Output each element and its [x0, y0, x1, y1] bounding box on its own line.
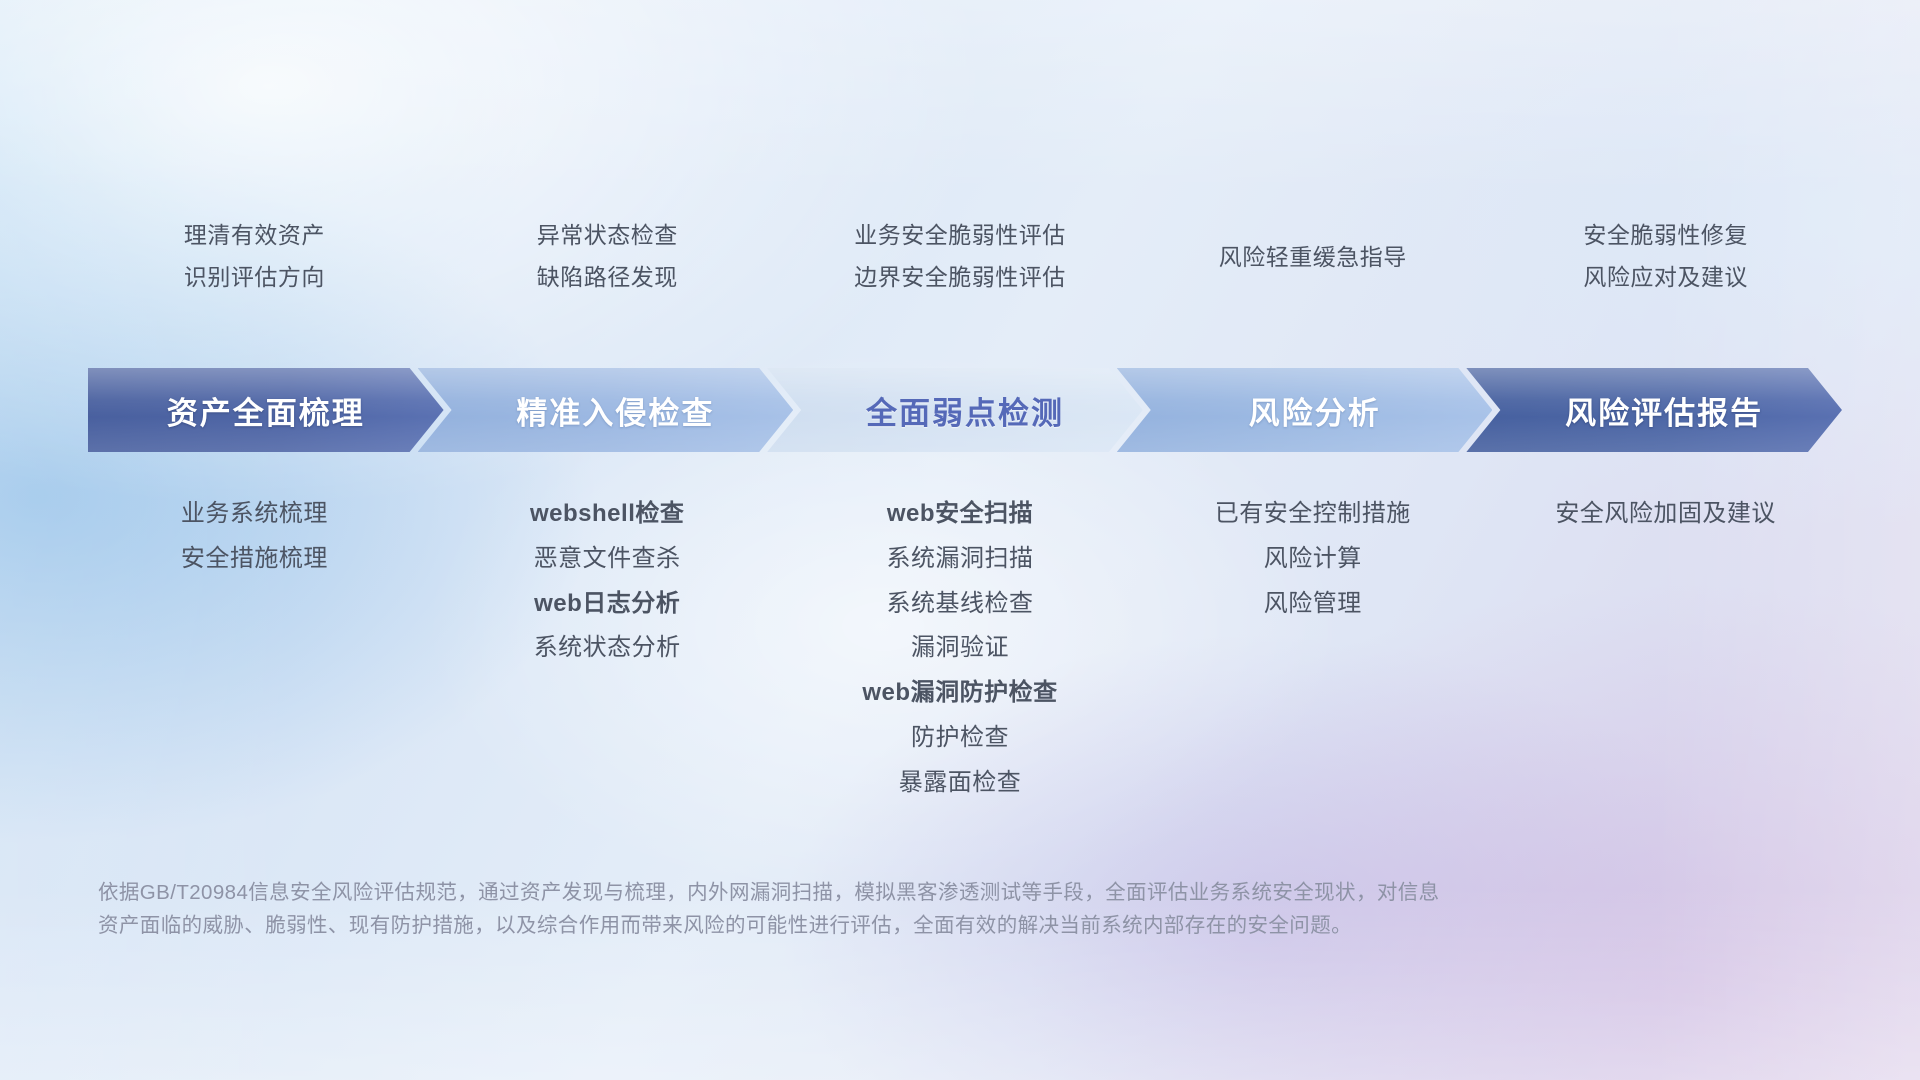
process-step-4[interactable]: 风险分析: [1117, 368, 1493, 452]
detail-list-step-3: web安全扫描 系统漏洞扫描 系统基线检查 漏洞验证 web漏洞防护检查 防护检…: [784, 500, 1137, 798]
detail-list-step-4: 已有安全控制措施 风险计算 风险管理: [1136, 500, 1489, 798]
list-item: 防护检查: [911, 724, 1009, 753]
process-arrow-band: 资产全面梳理 精准入侵检查 全面弱点检测 风险分析 风险评估报告: [88, 368, 1842, 452]
list-item: 已有安全控制措施: [1215, 500, 1411, 529]
process-diagram: 理清有效资产 识别评估方向 异常状态检查 缺陷路径发现 业务安全脆弱性评估 边界…: [0, 0, 1920, 1080]
detail-list-step-1: 业务系统梳理 安全措施梳理: [78, 500, 431, 798]
list-item: 系统漏洞扫描: [886, 545, 1033, 574]
top-note: 风险应对及建议: [1583, 264, 1748, 290]
top-note: 缺陷路径发现: [537, 264, 678, 290]
list-item: web日志分析: [534, 590, 680, 619]
list-item: 安全风险加固及建议: [1555, 500, 1776, 529]
list-item: 系统状态分析: [534, 634, 681, 663]
process-step-label: 风险评估报告: [1565, 388, 1763, 433]
list-item: 安全措施梳理: [181, 545, 328, 574]
top-notes-step-2: 异常状态检查 缺陷路径发现: [431, 222, 784, 291]
list-item: web安全扫描: [887, 500, 1033, 529]
top-note: 安全脆弱性修复: [1583, 222, 1748, 248]
top-notes-row: 理清有效资产 识别评估方向 异常状态检查 缺陷路径发现 业务安全脆弱性评估 边界…: [0, 222, 1920, 291]
process-step-label: 精准入侵检查: [516, 388, 714, 433]
process-step-5[interactable]: 风险评估报告: [1466, 368, 1842, 452]
process-step-label: 风险分析: [1249, 388, 1381, 433]
top-notes-step-4: 风险轻重缓急指导: [1136, 222, 1489, 291]
list-item: 风险管理: [1264, 590, 1362, 619]
top-note: 风险轻重缓急指导: [1219, 244, 1407, 270]
list-item: web漏洞防护检查: [862, 679, 1057, 708]
top-notes-step-5: 安全脆弱性修复 风险应对及建议: [1489, 222, 1842, 291]
list-item: webshell检查: [530, 500, 684, 529]
list-item: 漏洞验证: [911, 634, 1009, 663]
process-step-label: 全面弱点检测: [866, 388, 1064, 433]
process-step-1[interactable]: 资产全面梳理: [88, 368, 444, 452]
footer-line: 依据GB/T20984信息安全风险评估规范，通过资产发现与梳理，内外网漏洞扫描，…: [98, 876, 1590, 909]
list-item: 业务系统梳理: [181, 500, 328, 529]
top-note: 识别评估方向: [184, 264, 325, 290]
footer-line: 资产面临的威胁、脆弱性、现有防护措施，以及综合作用而带来风险的可能性进行评估，全…: [98, 909, 1590, 942]
list-item: 暴露面检查: [899, 769, 1022, 798]
process-step-2[interactable]: 精准入侵检查: [418, 368, 794, 452]
top-note: 边界安全脆弱性评估: [854, 264, 1066, 290]
list-item: 风险计算: [1264, 545, 1362, 574]
top-notes-step-3: 业务安全脆弱性评估 边界安全脆弱性评估: [784, 222, 1137, 291]
process-step-3[interactable]: 全面弱点检测: [767, 368, 1143, 452]
footer-description: 依据GB/T20984信息安全风险评估规范，通过资产发现与梳理，内外网漏洞扫描，…: [98, 876, 1590, 942]
top-note: 异常状态检查: [537, 222, 678, 248]
top-notes-step-1: 理清有效资产 识别评估方向: [78, 222, 431, 291]
detail-list-step-2: webshell检查 恶意文件查杀 web日志分析 系统状态分析: [431, 500, 784, 798]
list-item: 系统基线检查: [886, 590, 1033, 619]
detail-lists-row: 业务系统梳理 安全措施梳理 webshell检查 恶意文件查杀 web日志分析 …: [0, 500, 1920, 798]
detail-list-step-5: 安全风险加固及建议: [1489, 500, 1842, 798]
top-note: 业务安全脆弱性评估: [854, 222, 1066, 248]
process-step-label: 资产全面梳理: [167, 388, 365, 433]
top-note: 理清有效资产: [184, 222, 325, 248]
list-item: 恶意文件查杀: [534, 545, 681, 574]
